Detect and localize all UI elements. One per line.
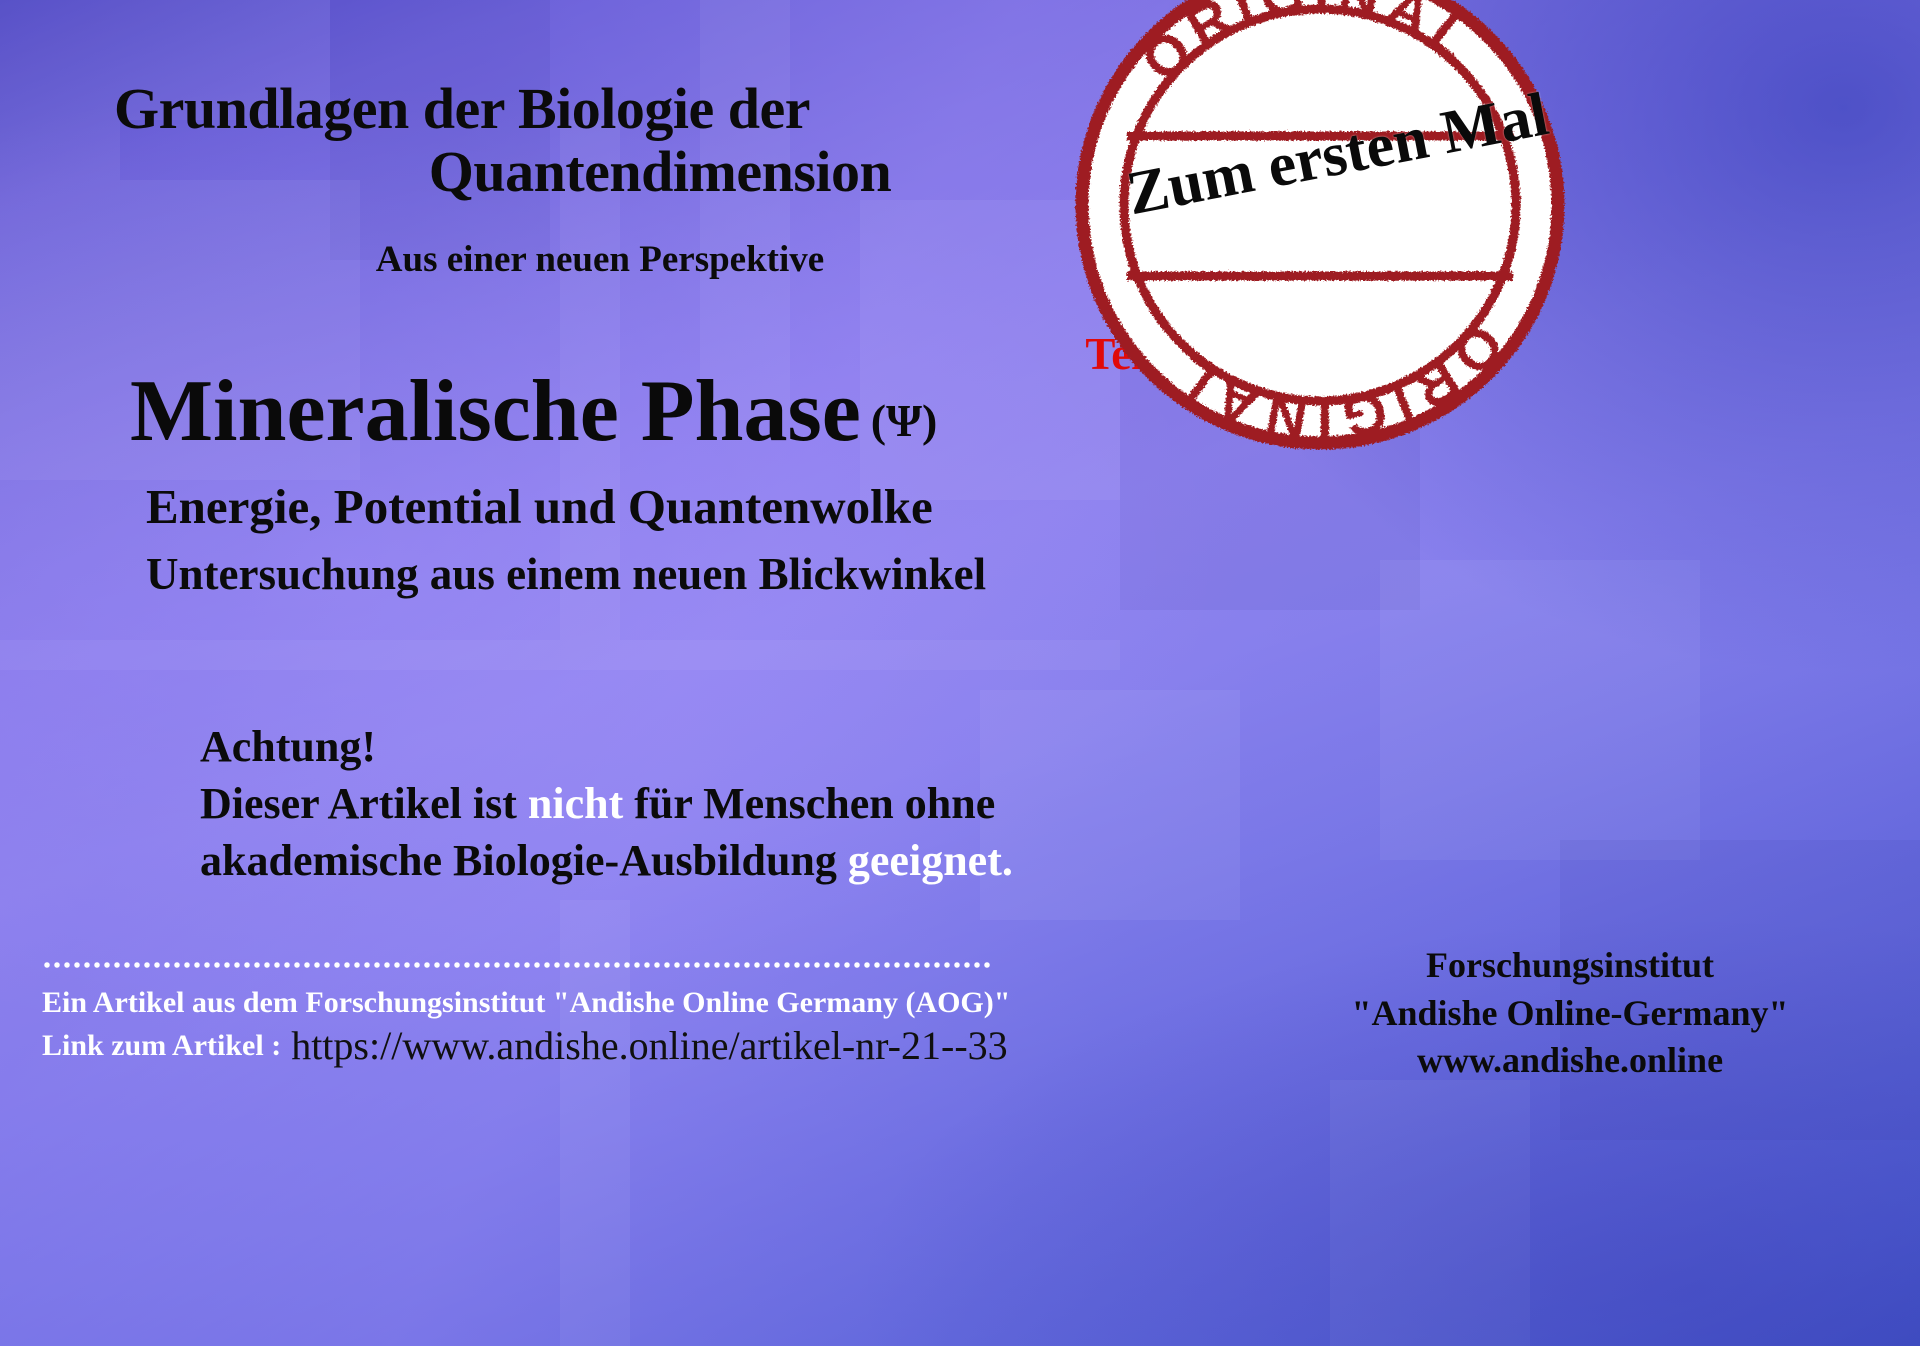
subtitle-tertiary: Untersuchung aus einem neuen Blickwinkel	[146, 548, 1206, 600]
svg-text:ORIGINAL: ORIGINAL	[1129, 0, 1490, 93]
warning-highlight-geeignet: geeignet.	[848, 836, 1013, 885]
institute-website[interactable]: www.andishe.online	[1260, 1037, 1880, 1085]
poster-canvas: Grundlagen der Biologie der Quantendimen…	[0, 0, 1920, 1346]
psi-symbol: (Ψ)	[871, 395, 938, 446]
svg-text:ORIGINAL: ORIGINAL	[1156, 312, 1516, 451]
dotted-divider	[42, 960, 992, 970]
bg-texture-rect	[0, 640, 1120, 670]
warning-heading: Achtung!	[200, 718, 1360, 775]
page-title-line1: Grundlagen der Biologie der	[100, 78, 1100, 141]
subtitle-secondary: Energie, Potential und Quantenwolke	[146, 478, 1186, 535]
warning-line-2-a: akademische Biologie-Ausbildung	[200, 836, 848, 885]
bg-texture-rect	[1380, 560, 1700, 860]
warning-block: Achtung! Dieser Artikel ist nicht für Me…	[200, 718, 1360, 890]
page-title-line2: Quantendimension	[100, 141, 1100, 204]
main-title: Mineralische Phase(Ψ)	[130, 368, 1190, 456]
footer-link-row: Link zum Artikel :https://www.andishe.on…	[42, 1022, 1008, 1069]
warning-line-2: akademische Biologie-Ausbildung geeignet…	[200, 832, 1360, 889]
header-subtitle: Aus einer neuen Perspektive	[100, 238, 1100, 281]
footer-link-url[interactable]: https://www.andishe.online/artikel-nr-21…	[291, 1023, 1007, 1068]
warning-line-1-a: Dieser Artikel ist	[200, 779, 528, 828]
main-title-text: Mineralische Phase	[130, 363, 861, 460]
warning-highlight-nicht: nicht	[528, 779, 623, 828]
warning-line-1-b: für Menschen ohne	[623, 779, 995, 828]
page-title: Grundlagen der Biologie der Quantendimen…	[100, 78, 1100, 203]
institute-block: Forschungsinstitut "Andishe Online-Germa…	[1260, 942, 1880, 1085]
warning-line-1: Dieser Artikel ist nicht für Menschen oh…	[200, 775, 1360, 832]
institute-line-2: "Andishe Online-Germany"	[1260, 990, 1880, 1038]
institute-line-1: Forschungsinstitut	[1260, 942, 1880, 990]
bg-texture-rect	[1330, 1080, 1530, 1346]
stamp-banner-text: Zum ersten Mal	[1121, 54, 1684, 231]
footer-source: Ein Artikel aus dem Forschungsinstitut "…	[42, 986, 1010, 1020]
footer-link-label: Link zum Artikel :	[42, 1029, 281, 1062]
